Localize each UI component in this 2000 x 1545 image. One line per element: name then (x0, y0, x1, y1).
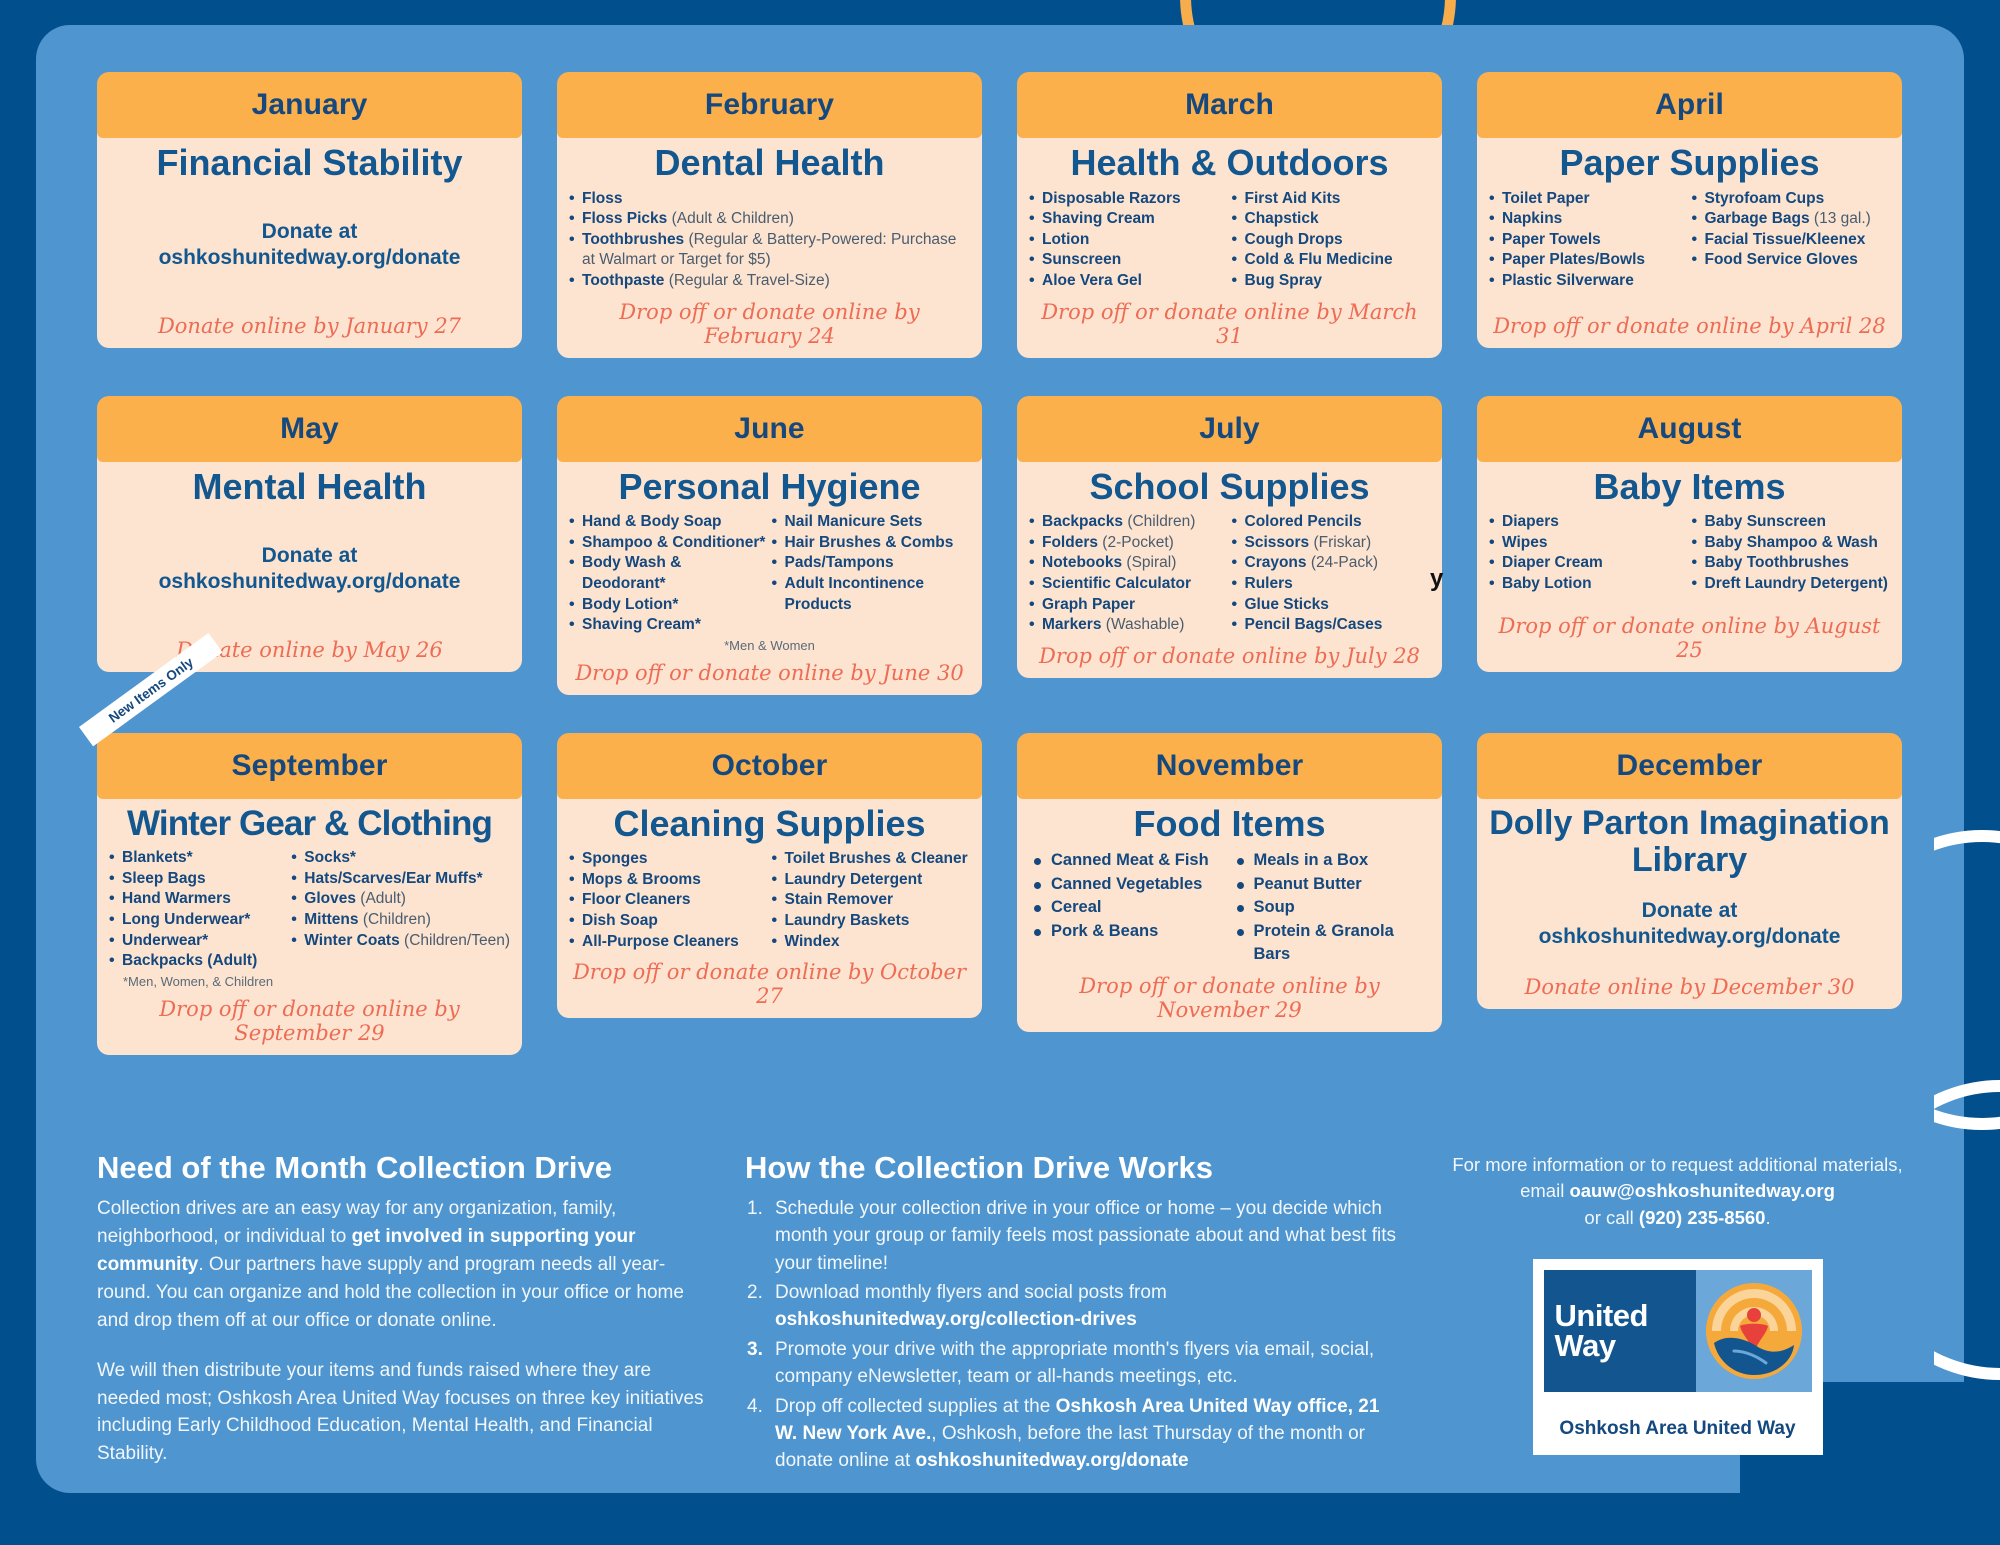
supply-item: Glue Sticks (1232, 595, 1431, 616)
supply-item: Canned Vegetables (1029, 873, 1228, 896)
supply-item: Winter Coats (Children/Teen) (291, 931, 510, 952)
supply-item: Soup (1232, 896, 1431, 919)
item-label: Scissors (1245, 534, 1310, 551)
month-body: School SuppliesBackpacks (Children)Folde… (1017, 456, 1442, 678)
supply-columns: DiapersWipesDiaper CreamBaby LotionBaby … (1489, 512, 1890, 605)
supply-item: Mops & Brooms (569, 870, 768, 891)
contact-line-1: For more information or to request addit… (1452, 1154, 1902, 1175)
item-label: Mittens (304, 911, 358, 928)
supply-list-right: Meals in a BoxPeanut ButterSoupProtein &… (1232, 849, 1431, 966)
supply-columns: Hand & Body SoapShampoo & Conditioner*Bo… (569, 512, 970, 636)
logo-word-united: United (1555, 1301, 1696, 1331)
item-label: Pencil Bags/Cases (1245, 616, 1383, 633)
item-label: Toilet Paper (1502, 190, 1590, 207)
month-card-september: New Items OnlySeptemberWinter Gear & Clo… (97, 733, 522, 1055)
item-label: Sponges (582, 850, 647, 867)
month-header: July (1017, 396, 1442, 462)
item-note: (13 gal.) (1814, 210, 1871, 227)
supply-item: Toilet Brushes & Cleaner (772, 849, 971, 870)
donate-link[interactable]: oshkoshunitedway.org/donate (159, 569, 461, 595)
supply-item: Dreft Laundry Detergent) (1692, 574, 1891, 595)
bottom-info-area: Need of the Month Collection Drive Colle… (97, 1150, 1927, 1477)
supply-list-right: First Aid KitsChapstickCough DropsCold &… (1232, 189, 1431, 292)
contact-line-3-prefix: or call (1584, 1207, 1639, 1228)
supply-columns: Blankets*Sleep BagsHand WarmersLong Unde… (109, 848, 510, 972)
month-header: August (1477, 396, 1902, 462)
item-label: Pork & Beans (1051, 922, 1158, 940)
item-label: Socks* (304, 849, 356, 866)
item-label: Disposable Razors (1042, 190, 1181, 207)
supply-item: Hand Warmers (109, 889, 287, 910)
item-label: Hair Brushes & Combs (785, 534, 954, 551)
supply-columns: Disposable RazorsShaving CreamLotionSuns… (1029, 189, 1430, 292)
item-label: Laundry Baskets (785, 912, 910, 929)
month-name: October (712, 749, 828, 783)
contact-column: For more information or to request addit… (1428, 1150, 1927, 1477)
item-label: Paper Plates/Bowls (1502, 251, 1645, 268)
item-label: Bug Spray (1245, 272, 1323, 289)
month-name: December (1617, 749, 1763, 783)
supply-list-right: Nail Manicure SetsHair Brushes & CombsPa… (772, 512, 971, 636)
item-label: Cereal (1051, 898, 1101, 916)
logo-mark-panel (1696, 1270, 1812, 1392)
item-label: Mops & Brooms (582, 871, 701, 888)
supply-item: Colored Pencils (1232, 512, 1431, 533)
item-label: Notebooks (1042, 554, 1122, 571)
item-label: Food Service Gloves (1705, 251, 1858, 268)
supply-item: Laundry Detergent (772, 870, 971, 891)
supply-item: Napkins (1489, 209, 1688, 230)
supply-list: FlossFloss Picks (Adult & Children)Tooth… (569, 189, 970, 292)
how-step-1: Schedule your collection drive in your o… (745, 1195, 1400, 1277)
supply-item: Paper Plates/Bowls (1489, 250, 1688, 271)
item-note: (Regular & Travel-Size) (669, 272, 830, 289)
item-label: Toilet Brushes & Cleaner (785, 850, 968, 867)
month-card-february: FebruaryDental HealthFlossFloss Picks (A… (557, 72, 982, 358)
contact-line-2-prefix: email (1520, 1180, 1569, 1201)
supply-item: Cough Drops (1232, 230, 1431, 251)
donate-block: Donate atoshkoshunitedway.org/donate (1489, 882, 1890, 967)
supply-item: Dish Soap (569, 911, 768, 932)
month-deadline: Donate online by January 27 (109, 306, 510, 338)
how-step-3: Promote your drive with the appropriate … (745, 1336, 1400, 1391)
supply-item: Underwear* (109, 931, 287, 952)
month-deadline: Drop off or donate online by November 29 (1029, 966, 1430, 1022)
item-label: Canned Vegetables (1051, 875, 1202, 893)
united-way-hand-rainbow-icon (1704, 1281, 1804, 1381)
item-label: Sleep Bags (122, 870, 206, 887)
supply-item: Floor Cleaners (569, 890, 768, 911)
month-deadline: Drop off or donate online by October 27 (569, 952, 970, 1008)
supply-item: Chapstick (1232, 209, 1431, 230)
item-label: Stain Remover (785, 891, 894, 908)
month-header: December (1477, 733, 1902, 799)
month-category-title: Personal Hygiene (569, 468, 970, 507)
supply-item: Hats/Scarves/Ear Muffs* (291, 869, 510, 890)
supply-list-right: Toilet Brushes & CleanerLaundry Detergen… (772, 849, 971, 952)
month-category-title: Baby Items (1489, 468, 1890, 507)
month-deadline: Donate online by May 26 (109, 630, 510, 662)
month-card-july: JulySchool SuppliesBackpacks (Children)F… (1017, 396, 1442, 695)
month-header: March (1017, 72, 1442, 138)
item-label: Body Wash & Deodorant* (582, 554, 681, 592)
supply-list-left: Disposable RazorsShaving CreamLotionSuns… (1029, 189, 1228, 292)
month-card-january: JanuaryFinancial StabilityDonate atoshko… (97, 72, 522, 358)
supply-item: Folders (2-Pocket) (1029, 533, 1228, 554)
month-category-title: Food Items (1029, 805, 1430, 844)
item-label: Diapers (1502, 513, 1559, 530)
supply-item: Meals in a Box (1232, 849, 1431, 872)
month-body: Personal HygieneHand & Body SoapShampoo … (557, 456, 982, 695)
month-header: September (97, 733, 522, 799)
supply-item: Mittens (Children) (291, 910, 510, 931)
item-label: Soup (1254, 898, 1295, 916)
supply-item: Wipes (1489, 533, 1688, 554)
supply-item: Crayons (24-Pack) (1232, 553, 1431, 574)
logo-top-block: United Way (1544, 1270, 1812, 1392)
item-label: Dreft Laundry Detergent) (1705, 575, 1888, 592)
supply-item: Scientific Calculator (1029, 574, 1228, 595)
item-label: Toothpaste (582, 272, 664, 289)
month-body: Health & OutdoorsDisposable RazorsShavin… (1017, 132, 1442, 358)
supply-item: Cold & Flu Medicine (1232, 250, 1431, 271)
contact-block: For more information or to request addit… (1428, 1150, 1927, 1231)
month-name: May (280, 412, 339, 446)
month-card-august: AugustBaby ItemsDiapersWipesDiaper Cream… (1477, 396, 1902, 695)
item-note: (Friskar) (1313, 534, 1371, 551)
month-deadline: Drop off or donate online by July 28 (1029, 636, 1430, 668)
month-name: July (1199, 412, 1259, 446)
item-label: Folders (1042, 534, 1098, 551)
item-label: Cough Drops (1245, 231, 1343, 248)
supply-list-left: Hand & Body SoapShampoo & Conditioner*Bo… (569, 512, 768, 636)
supply-item: Body Lotion* (569, 595, 768, 616)
supply-item: Diapers (1489, 512, 1688, 533)
month-card-march: MarchHealth & OutdoorsDisposable RazorsS… (1017, 72, 1442, 358)
how-step-4-link[interactable]: oshkoshunitedway.org/donate (916, 1450, 1189, 1471)
item-label: Pads/Tampons (785, 554, 894, 571)
item-note: (Adult & Children) (672, 210, 794, 227)
item-note: (Children) (363, 911, 431, 928)
month-category-title: Dental Health (569, 144, 970, 183)
month-card-december: DecemberDolly Parton Imagination Library… (1477, 733, 1902, 1055)
supply-item: Toilet Paper (1489, 189, 1688, 210)
supply-item: Aloe Vera Gel (1029, 271, 1228, 292)
supply-columns: Canned Meat & FishCanned VegetablesCerea… (1029, 849, 1430, 966)
logo-word-way: Way (1555, 1331, 1696, 1361)
supply-item: Canned Meat & Fish (1029, 849, 1228, 872)
supply-item: Pork & Beans (1029, 920, 1228, 943)
month-header: November (1017, 733, 1442, 799)
item-label: Baby Toothbrushes (1705, 554, 1849, 571)
month-name: February (705, 88, 834, 122)
united-way-logo: United Way (1533, 1259, 1823, 1455)
supply-columns: FlossFloss Picks (Adult & Children)Tooth… (569, 189, 970, 292)
item-label: First Aid Kits (1245, 190, 1341, 207)
supply-list-left: Canned Meat & FishCanned VegetablesCerea… (1029, 849, 1228, 966)
about-heading: Need of the Month Collection Drive (97, 1150, 717, 1186)
month-header: February (557, 72, 982, 138)
month-deadline: Drop off or donate online by June 30 (569, 653, 970, 685)
month-name: September (232, 749, 388, 783)
item-label: Hand & Body Soap (582, 513, 722, 530)
item-label: Sunscreen (1042, 251, 1121, 268)
item-label: Colored Pencils (1245, 513, 1362, 530)
supply-item: Nail Manicure Sets (772, 512, 971, 533)
logo-wordmark: United Way (1544, 1270, 1696, 1392)
supply-footnote: *Men, Women, & Children (109, 974, 510, 989)
contact-email[interactable]: oauw@oshkoshunitedway.org (1569, 1180, 1834, 1201)
item-label: Floss Picks (582, 210, 667, 227)
month-card-grid: JanuaryFinancial StabilityDonate atoshko… (97, 72, 1909, 1055)
month-body: Food ItemsCanned Meat & FishCanned Veget… (1017, 793, 1442, 1033)
supply-item: Scissors (Friskar) (1232, 533, 1431, 554)
month-card-october: OctoberCleaning SuppliesSpongesMops & Br… (557, 733, 982, 1055)
month-body: Baby ItemsDiapersWipesDiaper CreamBaby L… (1477, 456, 1902, 672)
stray-glyph: y (1430, 565, 1443, 593)
supply-item: Shaving Cream* (569, 615, 768, 636)
month-category-title: School Supplies (1029, 468, 1430, 507)
supply-item: Sunscreen (1029, 250, 1228, 271)
supply-list-right: Socks*Hats/Scarves/Ear Muffs*Gloves (Adu… (291, 848, 510, 972)
item-label: Gloves (304, 890, 356, 907)
item-label: Aloe Vera Gel (1042, 272, 1142, 289)
contact-phone[interactable]: (920) 235-8560 (1639, 1207, 1766, 1228)
supply-columns: Toilet PaperNapkinsPaper TowelsPaper Pla… (1489, 189, 1890, 306)
supply-list-right: Styrofoam CupsGarbage Bags (13 gal.)Faci… (1692, 189, 1891, 292)
month-header: June (557, 396, 982, 462)
item-label: Chapstick (1245, 210, 1319, 227)
month-body: Dental HealthFlossFloss Picks (Adult & C… (557, 132, 982, 358)
item-label: Toothbrushes (582, 231, 684, 248)
item-label: Cold & Flu Medicine (1245, 251, 1393, 268)
month-category-title: Winter Gear & Clothing (109, 805, 510, 842)
donate-link[interactable]: oshkoshunitedway.org/donate (1539, 924, 1841, 950)
supply-item: Facial Tissue/Kleenex (1692, 230, 1891, 251)
item-label: Rulers (1245, 575, 1293, 592)
month-name: January (252, 88, 368, 122)
supply-item: Paper Towels (1489, 230, 1688, 251)
supply-item: Bug Spray (1232, 271, 1431, 292)
month-category-title: Dolly Parton Imagination Library (1489, 805, 1890, 880)
supply-list-left: SpongesMops & BroomsFloor CleanersDish S… (569, 849, 768, 952)
supply-list-left: Backpacks (Children)Folders (2-Pocket)No… (1029, 512, 1228, 636)
supply-list-right: Baby SunscreenBaby Shampoo & WashBaby To… (1692, 512, 1891, 594)
about-paragraph-2: We will then distribute your items and f… (97, 1357, 717, 1469)
month-card-may: MayMental HealthDonate atoshkoshunitedwa… (97, 396, 522, 695)
supply-item: Floss Picks (Adult & Children) (569, 209, 970, 230)
month-category-title: Paper Supplies (1489, 144, 1890, 183)
supply-item: Baby Toothbrushes (1692, 553, 1891, 574)
poster-root: JanuaryFinancial StabilityDonate atoshko… (0, 0, 2000, 1545)
item-label: Windex (785, 933, 840, 950)
about-paragraph-1: Collection drives are an easy way for an… (97, 1195, 717, 1335)
supply-item: Notebooks (Spiral) (1029, 553, 1228, 574)
supply-list-left: Blankets*Sleep BagsHand WarmersLong Unde… (109, 848, 287, 972)
supply-item: Pencil Bags/Cases (1232, 615, 1431, 636)
donate-block: Donate atoshkoshunitedway.org/donate (109, 185, 510, 306)
month-deadline: Drop off or donate online by August 25 (1489, 606, 1890, 662)
how-heading: How the Collection Drive Works (745, 1150, 1400, 1186)
item-label: Body Lotion* (582, 596, 678, 613)
supply-item: Cereal (1029, 896, 1228, 919)
supply-item: Shampoo & Conditioner* (569, 533, 768, 554)
item-label: Garbage Bags (1705, 210, 1810, 227)
item-note: (2-Pocket) (1102, 534, 1174, 551)
how-column: How the Collection Drive Works Schedule … (745, 1150, 1400, 1477)
contact-line-3-period: . (1765, 1207, 1770, 1228)
supply-item: Long Underwear* (109, 910, 287, 931)
item-label: Diaper Cream (1502, 554, 1603, 571)
supply-list-left: DiapersWipesDiaper CreamBaby Lotion (1489, 512, 1688, 594)
item-label: Shampoo & Conditioner* (582, 534, 765, 551)
month-card-june: JunePersonal HygieneHand & Body SoapSham… (557, 396, 982, 695)
month-body: Cleaning SuppliesSpongesMops & BroomsFlo… (557, 793, 982, 1019)
month-deadline: Drop off or donate online by April 28 (1489, 306, 1890, 338)
supply-item: Socks* (291, 848, 510, 869)
month-header: April (1477, 72, 1902, 138)
item-label: Floor Cleaners (582, 891, 691, 908)
supply-item: Sponges (569, 849, 768, 870)
supply-item: Disposable Razors (1029, 189, 1228, 210)
supply-item: Hair Brushes & Combs (772, 533, 971, 554)
supply-item: Backpacks (Adult) (109, 951, 287, 972)
supply-item: Pads/Tampons (772, 553, 971, 574)
supply-item: Body Wash & Deodorant* (569, 553, 768, 594)
supply-item: Baby Sunscreen (1692, 512, 1891, 533)
supply-item: Food Service Gloves (1692, 250, 1891, 271)
item-note: (24-Pack) (1311, 554, 1378, 571)
supply-item: Toothbrushes (Regular & Battery-Powered:… (569, 230, 970, 271)
supply-item: Garbage Bags (13 gal.) (1692, 209, 1891, 230)
item-label: Blankets* (122, 849, 193, 866)
supply-item: Baby Lotion (1489, 574, 1688, 595)
month-body: Paper SuppliesToilet PaperNapkinsPaper T… (1477, 132, 1902, 348)
item-label: Floss (582, 190, 622, 207)
item-label: Backpacks (Adult) (122, 952, 257, 969)
donate-line-1: Donate at (262, 543, 358, 569)
how-step-2: Download monthly flyers and social posts… (745, 1279, 1400, 1334)
supply-item: Peanut Butter (1232, 873, 1431, 896)
month-body: Winter Gear & ClothingBlankets*Sleep Bag… (97, 793, 522, 1055)
month-name: November (1156, 749, 1304, 783)
item-label: Peanut Butter (1254, 875, 1362, 893)
item-label: Underwear* (122, 932, 208, 949)
item-label: Graph Paper (1042, 596, 1135, 613)
month-card-november: NovemberFood ItemsCanned Meat & FishCann… (1017, 733, 1442, 1055)
donate-line-1: Donate at (1642, 898, 1738, 924)
item-note: (Washable) (1106, 616, 1185, 633)
month-category-title: Cleaning Supplies (569, 805, 970, 844)
supply-item: Blankets* (109, 848, 287, 869)
item-label: Winter Coats (304, 932, 399, 949)
how-step-2-link[interactable]: oshkoshunitedway.org/collection-drives (775, 1309, 1137, 1330)
month-name: March (1185, 88, 1274, 122)
supply-item: Sleep Bags (109, 869, 287, 890)
item-label: Baby Sunscreen (1705, 513, 1826, 530)
supply-item: Rulers (1232, 574, 1431, 595)
supply-item: Windex (772, 932, 971, 953)
supply-item: Shaving Cream (1029, 209, 1228, 230)
supply-item: Lotion (1029, 230, 1228, 251)
month-category-title: Financial Stability (109, 144, 510, 183)
donate-line-1: Donate at (262, 219, 358, 245)
month-card-april: AprilPaper SuppliesToilet PaperNapkinsPa… (1477, 72, 1902, 358)
month-category-title: Mental Health (109, 468, 510, 507)
how-step-4: Drop off collected supplies at the Oshko… (745, 1393, 1400, 1475)
item-label: Styrofoam Cups (1705, 190, 1825, 207)
item-label: Wipes (1502, 534, 1548, 551)
supply-item: Backpacks (Children) (1029, 512, 1228, 533)
item-label: Facial Tissue/Kleenex (1705, 231, 1866, 248)
item-label: Backpacks (1042, 513, 1123, 530)
item-label: Shaving Cream* (582, 616, 701, 633)
donate-block: Donate atoshkoshunitedway.org/donate (109, 508, 510, 629)
item-label: Lotion (1042, 231, 1089, 248)
item-label: Protein & Granola Bars (1254, 922, 1394, 963)
item-label: Glue Sticks (1245, 596, 1329, 613)
supply-columns: SpongesMops & BroomsFloor CleanersDish S… (569, 849, 970, 952)
item-label: Scientific Calculator (1042, 575, 1191, 592)
item-label: Baby Lotion (1502, 575, 1592, 592)
supply-list-right: Colored PencilsScissors (Friskar)Crayons… (1232, 512, 1431, 636)
item-label: Paper Towels (1502, 231, 1601, 248)
item-label: Napkins (1502, 210, 1562, 227)
how-step-4-part-a: Drop off collected supplies at the (775, 1396, 1056, 1417)
supply-list-left: Toilet PaperNapkinsPaper TowelsPaper Pla… (1489, 189, 1688, 292)
item-label: Adult Incontinence Products (785, 575, 925, 613)
donate-link[interactable]: oshkoshunitedway.org/donate (159, 245, 461, 271)
month-category-title: Health & Outdoors (1029, 144, 1430, 183)
supply-item: Protein & Granola Bars (1232, 920, 1431, 967)
month-name: August (1638, 412, 1742, 446)
month-name: April (1655, 88, 1724, 122)
item-note: (Children/Teen) (404, 932, 510, 949)
item-label: Canned Meat & Fish (1051, 851, 1209, 869)
supply-footnote: *Men & Women (569, 638, 970, 653)
month-body: Dolly Parton Imagination LibraryDonate a… (1477, 793, 1902, 1009)
month-name: June (734, 412, 804, 446)
supply-item: Laundry Baskets (772, 911, 971, 932)
item-label: Markers (1042, 616, 1101, 633)
supply-item: Toothpaste (Regular & Travel-Size) (569, 271, 970, 292)
month-deadline: Drop off or donate online by February 24 (569, 292, 970, 348)
item-label: Hand Warmers (122, 890, 231, 907)
month-deadline: Donate online by December 30 (1489, 967, 1890, 999)
supply-item: First Aid Kits (1232, 189, 1431, 210)
month-deadline: Drop off or donate online by March 31 (1029, 292, 1430, 348)
supply-item: Adult Incontinence Products (772, 574, 971, 615)
month-header: May (97, 396, 522, 462)
supply-item: Styrofoam Cups (1692, 189, 1891, 210)
how-steps-list: Schedule your collection drive in your o… (745, 1195, 1400, 1475)
supply-columns: Backpacks (Children)Folders (2-Pocket)No… (1029, 512, 1430, 636)
item-label: All-Purpose Cleaners (582, 933, 739, 950)
supply-item: Diaper Cream (1489, 553, 1688, 574)
month-deadline: Drop off or donate online by September 2… (109, 989, 510, 1045)
supply-item: Baby Shampoo & Wash (1692, 533, 1891, 554)
logo-caption: Oshkosh Area United Way (1544, 1392, 1812, 1440)
item-label: Nail Manicure Sets (785, 513, 923, 530)
supply-item: Markers (Washable) (1029, 615, 1228, 636)
month-header: January (97, 72, 522, 138)
item-label: Dish Soap (582, 912, 658, 929)
month-header: October (557, 733, 982, 799)
supply-item: Graph Paper (1029, 595, 1228, 616)
item-label: Shaving Cream (1042, 210, 1155, 227)
how-step-2-text: Download monthly flyers and social posts… (775, 1282, 1167, 1303)
about-column: Need of the Month Collection Drive Colle… (97, 1150, 717, 1477)
